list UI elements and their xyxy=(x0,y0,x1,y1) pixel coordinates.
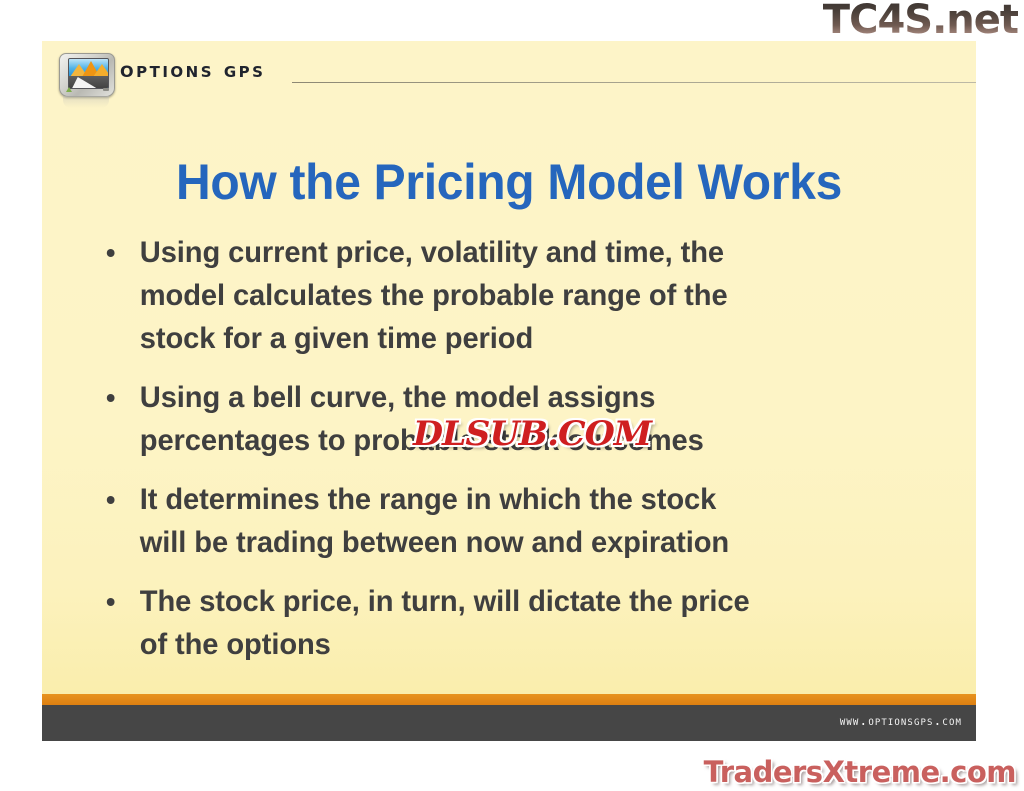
bullet-line: Using current price, volatility and time… xyxy=(140,231,942,274)
page-title: How the Pricing Model Works xyxy=(61,153,958,211)
leaf-icon xyxy=(66,87,72,92)
gps-device-screen xyxy=(68,58,109,89)
bullet-line: model calculates the probable range of t… xyxy=(140,274,942,317)
gps-device-button xyxy=(103,88,109,91)
footer-accent-stripe xyxy=(42,694,976,705)
footer-url: www.OptionsGPS.com xyxy=(840,714,962,729)
slide-footer: www.OptionsGPS.com xyxy=(42,705,976,741)
bullet-line: The stock price, in turn, will dictate t… xyxy=(140,580,942,623)
header-divider xyxy=(292,82,976,83)
bullet-dot-icon xyxy=(107,394,115,402)
gps-device-icon xyxy=(59,53,113,95)
list-item: Using current price, volatility and time… xyxy=(100,231,942,360)
bullet-list: Using current price, volatility and time… xyxy=(100,231,968,682)
bullet-line: It determines the range in which the sto… xyxy=(140,478,942,521)
list-item: It determines the range in which the sto… xyxy=(100,478,942,564)
list-item: The stock price, in turn, will dictate t… xyxy=(100,580,942,666)
brand-wordmark: Options GPS xyxy=(120,57,265,83)
site-watermark: DLSUB.COM xyxy=(413,415,651,453)
screen-road xyxy=(72,77,98,88)
gps-device-reflection xyxy=(63,96,109,108)
bullet-line: Using a bell curve, the model assigns xyxy=(140,376,942,419)
tradersxtreme-brand-logo: TradersXtreme.com xyxy=(704,755,1016,789)
presentation-slide: Options GPS How the Pricing Model Works … xyxy=(42,41,976,741)
slide-header: Options GPS xyxy=(42,41,976,103)
bullet-line: will be trading between now and expirati… xyxy=(140,521,942,564)
bullet-line: stock for a given time period xyxy=(140,317,942,360)
bullet-line: of the options xyxy=(140,623,942,666)
bullet-dot-icon xyxy=(107,496,115,504)
bullet-dot-icon xyxy=(107,249,115,257)
bullet-dot-icon xyxy=(107,598,115,606)
screen-mountain xyxy=(93,64,109,77)
tc4s-brand-logo: TC4S.net xyxy=(823,0,1018,42)
